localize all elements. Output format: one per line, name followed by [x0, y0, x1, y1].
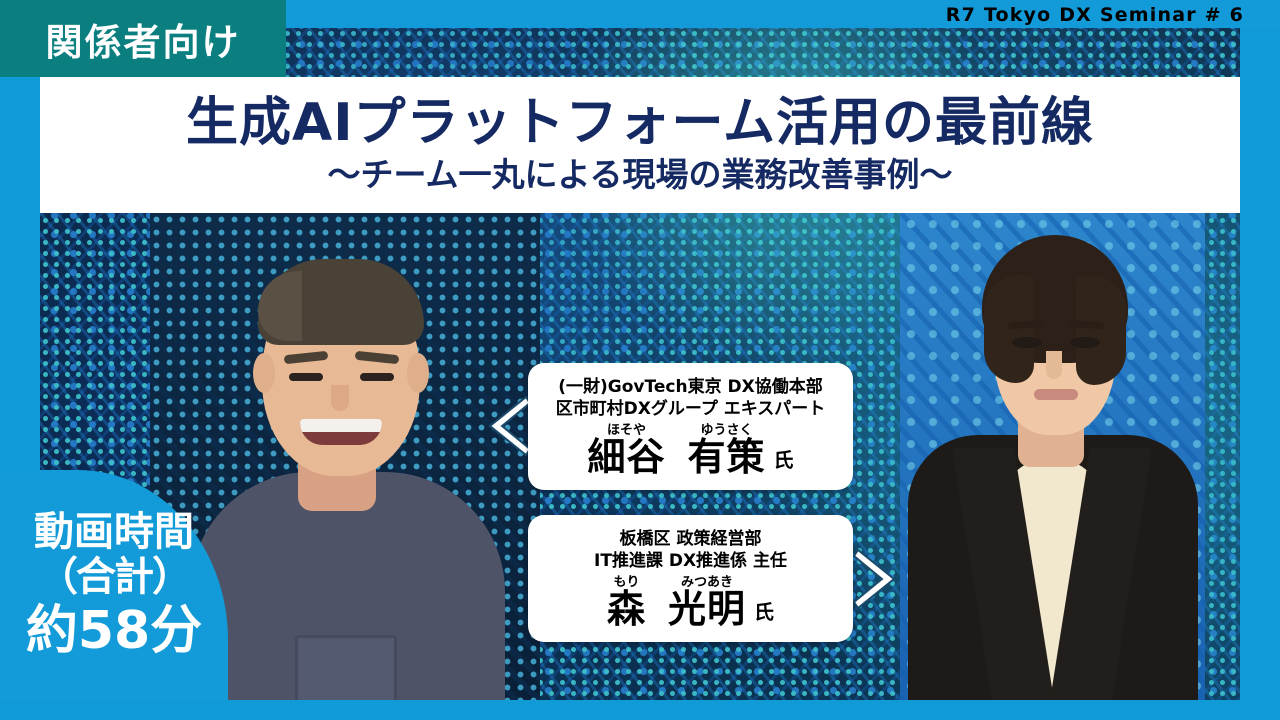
- duration-label-line-1: 動画時間: [34, 510, 194, 556]
- frame-strip-bottom: [0, 700, 1280, 720]
- speaker-1-family-kanji: 細谷: [587, 438, 665, 476]
- page-title: 生成AIプラットフォーム活用の最前線: [186, 96, 1094, 151]
- portrait-left-nose: [331, 385, 349, 411]
- speaker-card-2: 板橋区 政策経営部 IT推進課 DX推進係 主任 もり 森 みつあき 光明 氏: [528, 515, 853, 642]
- duration-label-line-2: （合計）: [38, 555, 190, 601]
- portrait-right-eye-right: [1070, 337, 1100, 348]
- speaker-1-name-row: ほそや 細谷 ゆうさく 有策 氏: [587, 424, 793, 476]
- chevron-right-icon: [852, 548, 898, 610]
- seminar-tag: R7 Tokyo DX Seminar # 6: [946, 1, 1244, 28]
- speaker-2-given-name: みつあき 光明: [668, 576, 746, 628]
- audience-badge: 関係者向け: [0, 0, 286, 77]
- portrait-left-mouth: [300, 419, 382, 445]
- speaker-1-family-name: ほそや 細谷: [587, 424, 665, 476]
- portrait-right-nose: [1046, 351, 1062, 379]
- speaker-2-given-kanji: 光明: [668, 590, 746, 628]
- speaker-2-name-row: もり 森 みつあき 光明 氏: [607, 576, 774, 628]
- audience-badge-label: 関係者向け: [46, 12, 241, 66]
- portrait-right-mouth: [1034, 389, 1078, 400]
- page-subtitle: 〜チーム一丸による現場の業務改善事例〜: [327, 157, 952, 193]
- portrait-right-hair-sweep-left: [984, 275, 1034, 383]
- speaker-1-given-name: ゆうさく 有策: [688, 424, 766, 476]
- speaker-2-affiliation-line-1: 板橋区 政策経営部: [620, 529, 762, 551]
- portrait-left-eye-right: [360, 373, 394, 381]
- speaker-photo-mori: [900, 213, 1205, 700]
- speaker-1-affiliation-line-2: 区市町村DXグループ エキスパート: [556, 399, 826, 421]
- speaker-1-affiliation-line-1: (一財)GovTech東京 DX協働本部: [558, 377, 822, 399]
- portrait-left-teeth: [300, 419, 382, 432]
- portrait-left-eye-left: [289, 373, 323, 381]
- speaker-2-affiliation-line-2: IT推進課 DX推進係 主任: [594, 551, 787, 573]
- portrait-left-ear-left: [253, 353, 275, 393]
- speaker-2-honorific: 氏: [754, 596, 774, 628]
- portrait-right-hair-sweep-right: [1076, 275, 1126, 385]
- title-band: 生成AIプラットフォーム活用の最前線 〜チーム一丸による現場の業務改善事例〜: [40, 77, 1240, 213]
- portrait-right-eye-left: [1012, 337, 1042, 348]
- speaker-card-1: (一財)GovTech東京 DX協働本部 区市町村DXグループ エキスパート ほ…: [528, 363, 853, 490]
- portrait-left-ear-right: [407, 353, 429, 393]
- speaker-1-given-kanji: 有策: [688, 438, 766, 476]
- speaker-2-family-name: もり 森: [607, 576, 646, 628]
- duration-value: 約58分: [26, 603, 202, 660]
- frame-strip-right: [1240, 28, 1280, 720]
- portrait-left-pocket: [295, 635, 397, 700]
- speaker-2-family-kanji: 森: [607, 590, 646, 628]
- speaker-1-honorific: 氏: [774, 444, 794, 476]
- seminar-thumbnail: 関係者向け R7 Tokyo DX Seminar # 6 生成AIプラットフォ…: [0, 0, 1280, 720]
- chevron-left-icon: [486, 395, 532, 457]
